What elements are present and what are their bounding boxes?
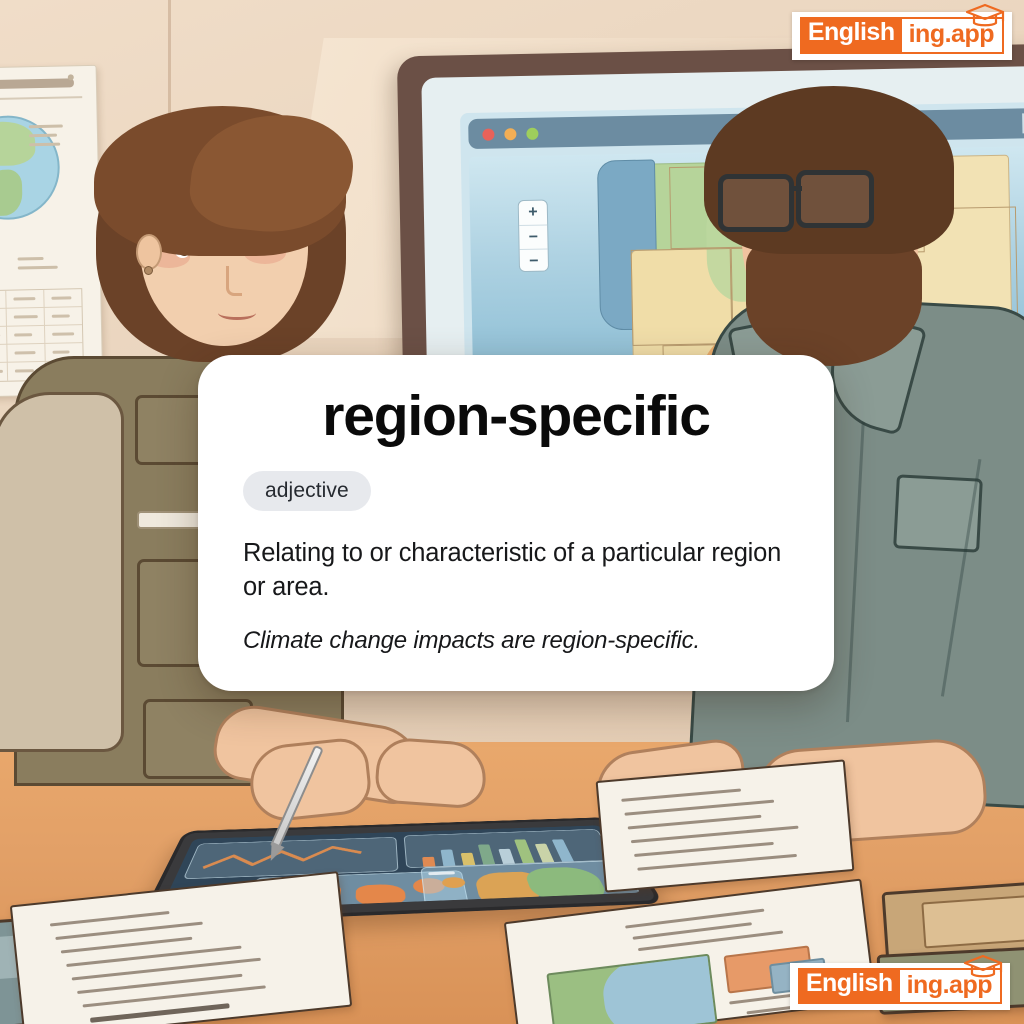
brand-logo-bottom-part-1: English <box>798 968 900 1005</box>
woman-sleeve <box>0 392 124 752</box>
paper-map-thumbnail <box>546 954 717 1024</box>
definition-card: region-specific adjective Relating to or… <box>198 355 834 691</box>
report-paper-right-top <box>596 759 855 892</box>
man-beard <box>746 236 922 366</box>
woman-earring <box>144 266 153 275</box>
glasses-icon <box>718 174 794 232</box>
maximize-dot-icon[interactable] <box>526 128 538 140</box>
example-sentence: Climate change impacts are region-specif… <box>243 627 789 655</box>
graduation-cap-icon-bottom <box>962 952 1004 985</box>
map-zoom-controls[interactable]: + − − <box>518 199 549 272</box>
poster-callout-lines <box>29 125 64 153</box>
climate-globe-poster <box>0 65 103 397</box>
map-zoom-out-button[interactable]: − <box>519 225 547 250</box>
graduation-cap-icon <box>964 1 1006 34</box>
poster-header-bar <box>0 78 74 89</box>
close-dot-icon[interactable] <box>482 129 494 141</box>
woman-head <box>96 110 346 370</box>
brand-logo-top[interactable]: English ing.app <box>792 12 1012 60</box>
part-of-speech-badge: adjective <box>243 471 371 511</box>
scene-stage: ○ <box>0 0 1024 1024</box>
definition-text: Relating to or characteristic of a parti… <box>243 537 789 605</box>
brand-logo-bottom[interactable]: English ing.app <box>790 963 1010 1011</box>
minimize-dot-icon[interactable] <box>504 128 516 140</box>
poster-caption-lines <box>18 257 58 276</box>
man-head <box>700 86 960 386</box>
woman-ear <box>136 234 162 270</box>
map-zoom-in-button[interactable]: + <box>519 201 547 226</box>
glasses-right-lens-icon <box>796 170 874 228</box>
page-title: region-specific <box>198 387 834 447</box>
poster-rule <box>0 96 82 100</box>
map-reset-button[interactable]: − <box>520 249 548 274</box>
brand-logo-part-1: English <box>800 17 902 54</box>
